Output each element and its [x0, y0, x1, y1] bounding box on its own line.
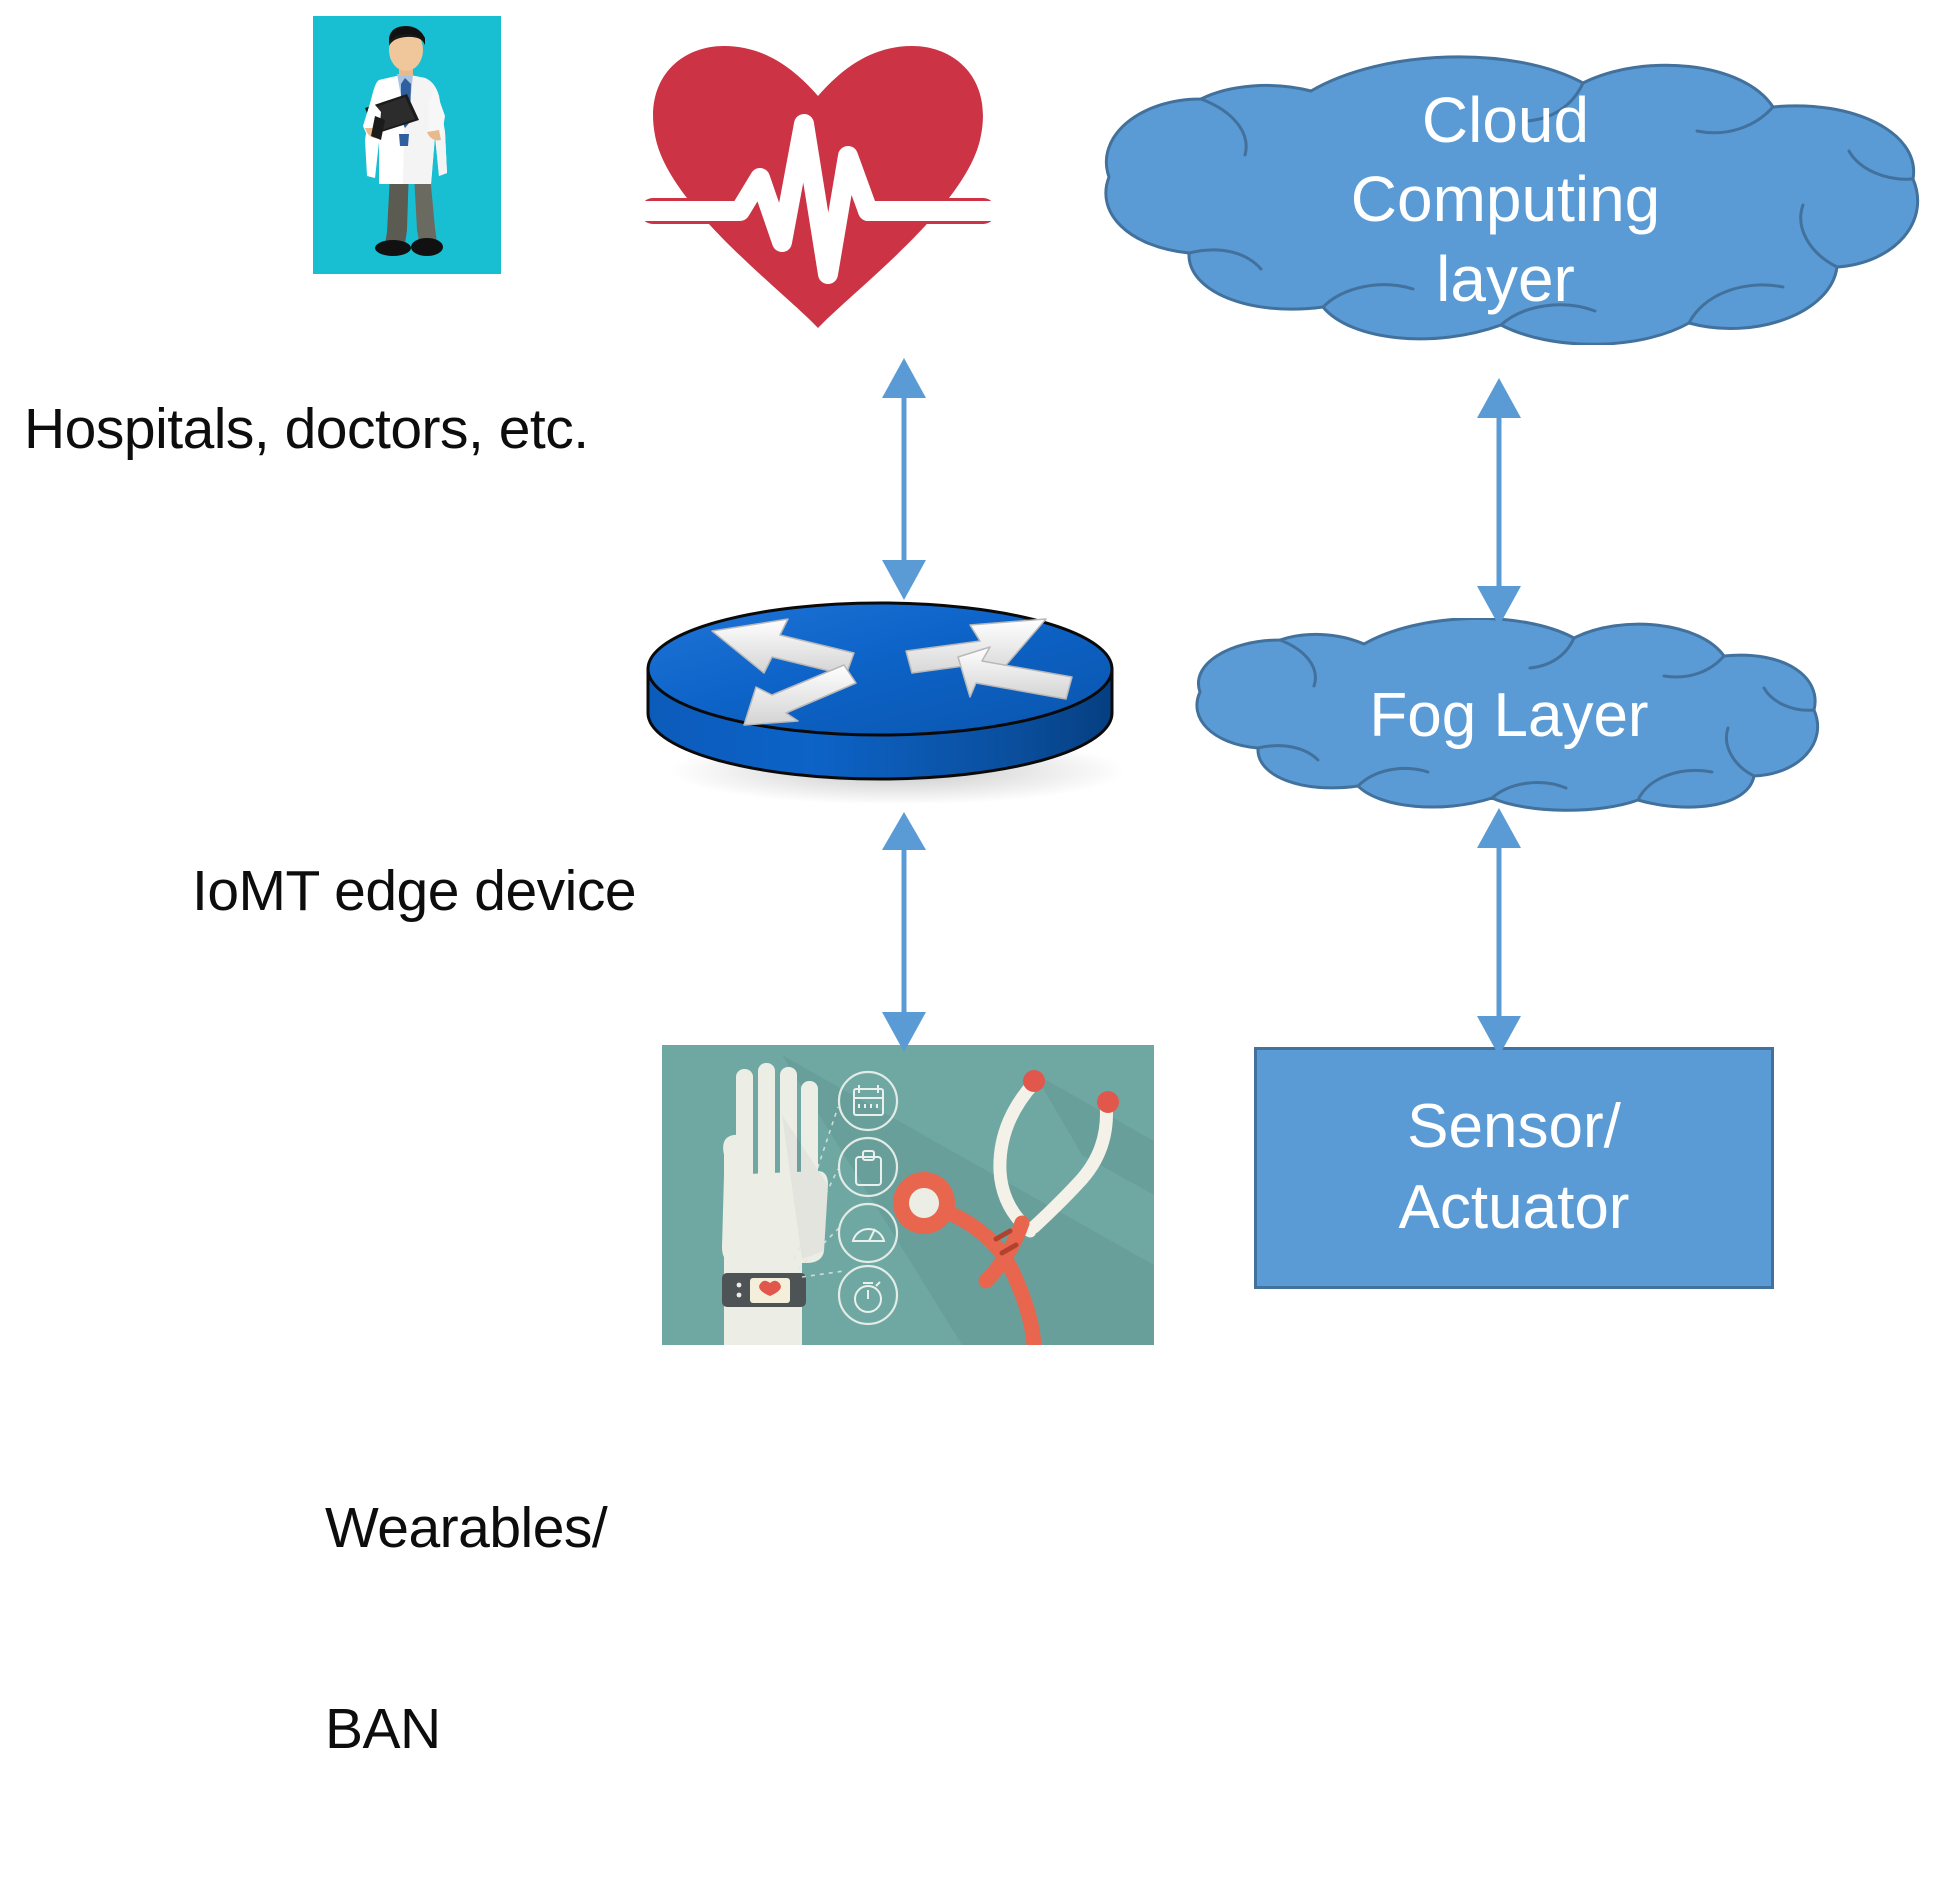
- network-router-icon[interactable]: [640, 591, 1122, 803]
- hospitals-doctors-label: Hospitals, doctors, etc.: [24, 396, 589, 463]
- iomt-edge-device-label: IoMT edge device: [192, 858, 636, 925]
- connector-cloud-to-fog[interactable]: [1473, 378, 1525, 626]
- wearables-label-line-1: Wearables/: [325, 1495, 607, 1562]
- sensor-actuator-label-line-1: Sensor/: [1407, 1087, 1621, 1168]
- diagram-canvas: Cloud Computing layer Fog Layer: [0, 0, 1936, 1528]
- wearables-ban-label: Wearables/ BAN: [325, 1360, 607, 1898]
- heart-ecg-icon: [632, 28, 1004, 330]
- fog-layer-node[interactable]: Fog Layer: [1194, 618, 1824, 814]
- connector-fog-to-sensor[interactable]: [1473, 808, 1525, 1056]
- sensor-actuator-node[interactable]: Sensor/ Actuator: [1254, 1047, 1774, 1289]
- sensor-actuator-label-line-2: Actuator: [1399, 1168, 1630, 1249]
- wearables-label-line-2: BAN: [325, 1696, 607, 1763]
- connector-router-to-wearables[interactable]: [878, 812, 930, 1052]
- doctor-illustration-icon: [313, 16, 501, 274]
- cloud-computing-layer-node[interactable]: Cloud Computing layer: [1083, 55, 1928, 345]
- connector-heart-to-router[interactable]: [878, 358, 930, 600]
- wearables-illustration-icon: [662, 1045, 1154, 1345]
